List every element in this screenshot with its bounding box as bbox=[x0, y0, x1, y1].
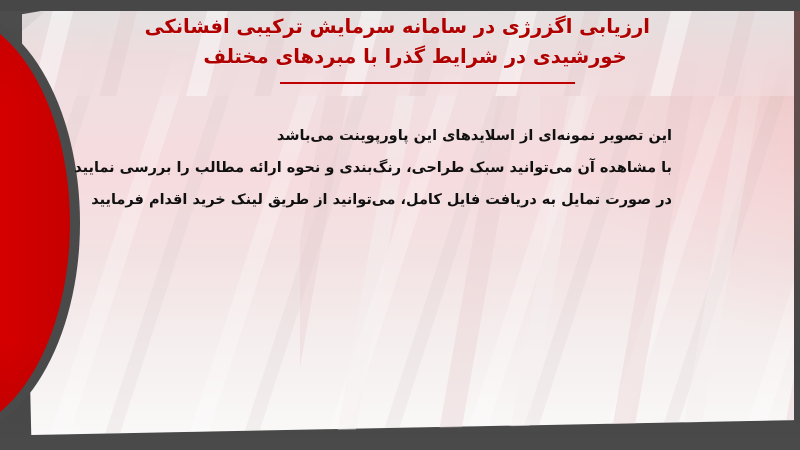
body-line-1: این تصویر نمونه‌ای از اسلایدهای این پاور… bbox=[112, 120, 672, 152]
slide-title-line-2: خورشیدی در شرایط گذرا با مبردهای مختلف bbox=[180, 42, 650, 72]
body-line-3: در صورت تمایل به دریافت فایل کامل، می‌تو… bbox=[112, 184, 672, 216]
body-line-2: با مشاهده آن می‌توانید سبک طراحی، رنگ‌بن… bbox=[112, 152, 672, 184]
slide-canvas: ارزیابی اگزرژی در سامانه سرمایش ترکیبی ا… bbox=[0, 0, 800, 450]
slide-title-line-1: ارزیابی اگزرژی در سامانه سرمایش ترکیبی ا… bbox=[180, 12, 650, 42]
slide-body-text: این تصویر نمونه‌ای از اسلایدهای این پاور… bbox=[112, 120, 672, 216]
slide-title: ارزیابی اگزرژی در سامانه سرمایش ترکیبی ا… bbox=[180, 12, 650, 72]
slide-background bbox=[22, 10, 794, 435]
title-underline-rule bbox=[280, 82, 575, 84]
top-frame-strip bbox=[0, 0, 800, 11]
